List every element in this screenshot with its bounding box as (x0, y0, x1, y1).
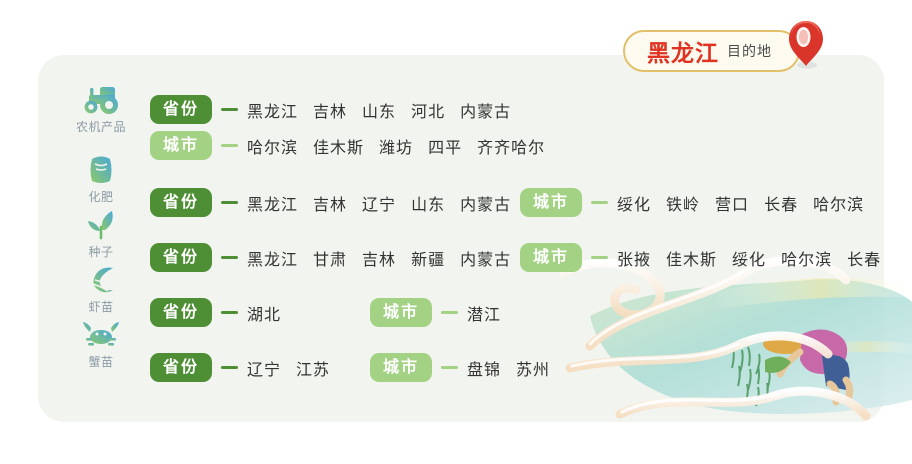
sidebar-item-fertilizer[interactable]: 化肥 (58, 152, 144, 207)
province-badge: 省份 (150, 95, 212, 124)
row-seed-provinces: 省份 黑龙江 甘肃 吉林 新疆 内蒙古 (150, 243, 511, 272)
region-value[interactable]: 长春 (764, 191, 798, 215)
region-value[interactable]: 张掖 (617, 246, 651, 270)
region-value[interactable]: 吉林 (313, 98, 347, 122)
region-value[interactable]: 盘锦 (467, 356, 501, 380)
row-shrimp-cities: 城市 潜江 (370, 298, 501, 327)
region-value[interactable]: 内蒙古 (460, 191, 511, 215)
sidebar-item-shrimp[interactable]: 虾苗 (58, 262, 144, 317)
city-values: 绥化 铁岭 营口 长春 哈尔滨 (617, 191, 864, 215)
region-value[interactable]: 哈尔滨 (247, 134, 298, 158)
destination-name: 黑龙江 (647, 34, 719, 68)
city-values: 张掖 佳木斯 绥化 哈尔滨 长春 (617, 246, 881, 270)
row-agri-machinery-provinces: 省份 黑龙江 吉林 山东 河北 内蒙古 (150, 95, 511, 124)
connector-dash (441, 311, 458, 314)
region-value[interactable]: 辽宁 (247, 356, 281, 380)
region-value[interactable]: 内蒙古 (460, 98, 511, 122)
region-value[interactable]: 佳木斯 (666, 246, 717, 270)
region-value[interactable]: 山东 (362, 98, 396, 122)
connector-dash (221, 366, 238, 369)
row-crab-cities: 城市 盘锦 苏州 (370, 353, 550, 382)
sidebar-item-label: 蟹苗 (88, 353, 113, 370)
region-value[interactable]: 河北 (411, 98, 445, 122)
tractor-icon (79, 82, 123, 116)
region-value[interactable]: 潍坊 (379, 134, 413, 158)
region-value[interactable]: 湖北 (247, 301, 281, 325)
province-values: 黑龙江 甘肃 吉林 新疆 内蒙古 (247, 246, 511, 270)
region-value[interactable]: 内蒙古 (460, 246, 511, 270)
region-value[interactable]: 绥化 (732, 246, 766, 270)
row-fertilizer-cities: 城市 绥化 铁岭 营口 长春 哈尔滨 (520, 188, 864, 217)
region-value[interactable]: 辽宁 (362, 191, 396, 215)
row-crab-provinces: 省份 辽宁 江苏 (150, 353, 330, 382)
connector-dash (221, 201, 238, 204)
region-value[interactable]: 吉林 (313, 191, 347, 215)
city-values: 潜江 (467, 301, 501, 325)
row-fertilizer-provinces: 省份 黑龙江 吉林 辽宁 山东 内蒙古 (150, 188, 511, 217)
region-value[interactable]: 营口 (715, 191, 749, 215)
region-value[interactable]: 黑龙江 (247, 246, 298, 270)
province-values: 辽宁 江苏 (247, 356, 330, 380)
city-badge: 城市 (150, 131, 212, 160)
sidebar-item-label: 农机产品 (76, 118, 126, 135)
province-values: 湖北 (247, 301, 281, 325)
province-badge: 省份 (150, 188, 212, 217)
destination-badge[interactable]: 黑龙江 目的地 (623, 30, 800, 72)
city-badge: 城市 (370, 353, 432, 382)
sidebar-item-crab[interactable]: 蟹苗 (58, 317, 144, 372)
region-value[interactable]: 黑龙江 (247, 98, 298, 122)
city-badge: 城市 (520, 243, 582, 272)
connector-dash (221, 311, 238, 314)
region-value[interactable]: 绥化 (617, 191, 651, 215)
region-value[interactable]: 新疆 (411, 246, 445, 270)
seedling-icon (79, 207, 123, 241)
region-value[interactable]: 四平 (428, 134, 462, 158)
sidebar-item-seed[interactable]: 种子 (58, 207, 144, 262)
connector-dash (221, 108, 238, 111)
row-shrimp-provinces: 省份 湖北 (150, 298, 281, 327)
region-value[interactable]: 苏州 (516, 356, 550, 380)
sidebar-item-agri-machinery[interactable]: 农机产品 (58, 82, 144, 152)
region-value[interactable]: 铁岭 (666, 191, 700, 215)
region-value[interactable]: 长春 (847, 246, 881, 270)
sidebar-item-label: 种子 (88, 243, 113, 260)
connector-dash (591, 201, 608, 204)
region-value[interactable]: 黑龙江 (247, 191, 298, 215)
sidebar-item-label: 化肥 (88, 188, 113, 205)
province-badge: 省份 (150, 243, 212, 272)
fertilizer-bag-icon (79, 152, 123, 186)
province-badge: 省份 (150, 353, 212, 382)
page-root: 黑龙江 目的地 (0, 0, 912, 464)
region-value[interactable]: 哈尔滨 (781, 246, 832, 270)
region-value[interactable]: 潜江 (467, 301, 501, 325)
category-sidebar: 农机产品 化肥 (58, 82, 144, 372)
connector-dash (591, 256, 608, 259)
region-value[interactable]: 哈尔滨 (813, 191, 864, 215)
shrimp-icon (79, 262, 123, 296)
province-values: 黑龙江 吉林 山东 河北 内蒙古 (247, 98, 511, 122)
province-values: 黑龙江 吉林 辽宁 山东 内蒙古 (247, 191, 511, 215)
province-badge: 省份 (150, 298, 212, 327)
connector-dash (221, 144, 238, 147)
destination-suffix: 目的地 (727, 41, 772, 61)
city-badge: 城市 (520, 188, 582, 217)
region-value[interactable]: 江苏 (296, 356, 330, 380)
region-value[interactable]: 甘肃 (313, 246, 347, 270)
connector-dash (441, 366, 458, 369)
region-value[interactable]: 吉林 (362, 246, 396, 270)
row-agri-machinery-cities: 城市 哈尔滨 佳木斯 潍坊 四平 齐齐哈尔 (150, 131, 545, 160)
region-value[interactable]: 佳木斯 (313, 134, 364, 158)
region-value[interactable]: 齐齐哈尔 (477, 134, 545, 158)
connector-dash (221, 256, 238, 259)
row-seed-cities: 城市 张掖 佳木斯 绥化 哈尔滨 长春 (520, 243, 881, 272)
map-pin-icon (784, 18, 828, 70)
region-value[interactable]: 山东 (411, 191, 445, 215)
city-values: 盘锦 苏州 (467, 356, 550, 380)
city-values: 哈尔滨 佳木斯 潍坊 四平 齐齐哈尔 (247, 134, 545, 158)
city-badge: 城市 (370, 298, 432, 327)
sidebar-item-label: 虾苗 (88, 298, 113, 315)
crab-icon (79, 317, 123, 351)
